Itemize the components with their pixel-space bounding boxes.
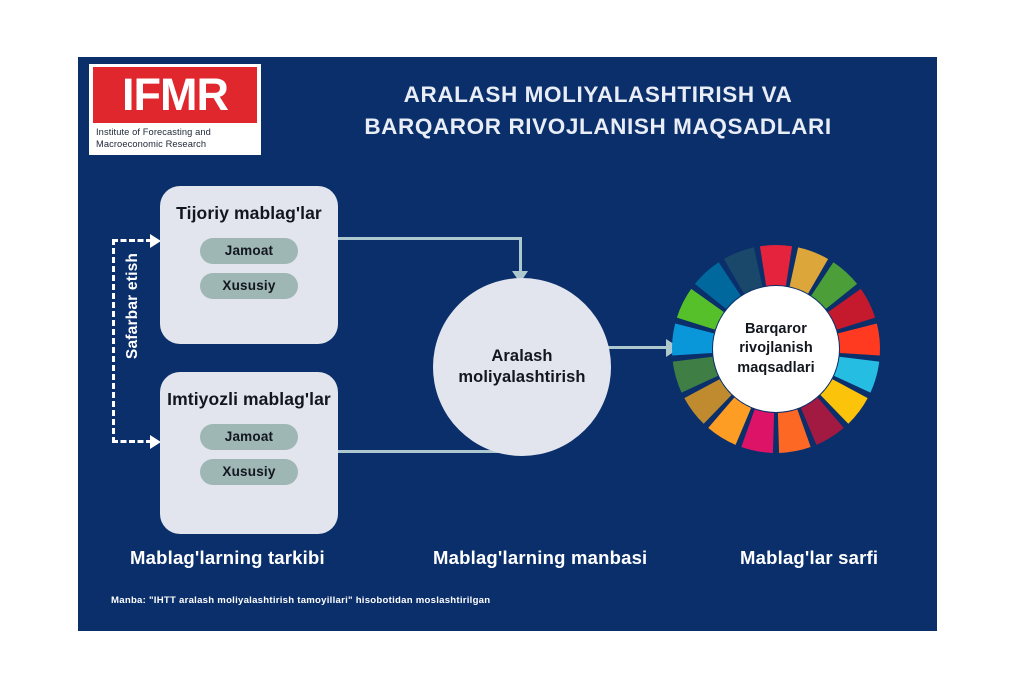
column-caption-source: Mablag'larning manbasi (433, 547, 647, 569)
infographic-panel: IFMR Institute of Forecasting and Macroe… (78, 57, 937, 631)
mobilisation-bracket-bottom-arm (112, 440, 152, 443)
sdg-segment-14 (672, 324, 714, 356)
card-title: Imtiyozli mablag'lar (160, 389, 338, 411)
sdg-wheel-hub (713, 286, 839, 412)
pill-public: Jamoat (200, 238, 298, 264)
funding-source-card-concessional: Imtiyozli mablag'lar Jamoat Xususiy (160, 372, 338, 534)
pill-private: Xususiy (200, 459, 298, 485)
sdg-segment-1 (760, 245, 792, 286)
blended-finance-node: Aralash moliyalashtirish (433, 278, 611, 456)
blended-finance-label-line-1: Aralash (458, 346, 585, 367)
connector-blend-to-sdg (606, 346, 668, 349)
logo-wordmark: IFMR (93, 67, 257, 123)
mobilisation-bracket-vertical (112, 239, 115, 443)
pill-private: Xususiy (200, 273, 298, 299)
mobilisation-label: Safarbar etish (124, 206, 142, 406)
logo-subtitle: Institute of Forecasting and Macroeconom… (93, 123, 257, 151)
blended-finance-label: Aralash moliyalashtirish (458, 346, 585, 389)
sdg-segment-5 (838, 324, 880, 356)
page-title-line-1: ARALASH MOLIYALASHTIRISH VA (278, 79, 918, 111)
column-caption-use: Mablag'lar sarfi (740, 547, 878, 569)
card-title: Tijoriy mablag'lar (160, 203, 338, 225)
sdg-wheel-svg (670, 243, 882, 455)
pill-public: Jamoat (200, 424, 298, 450)
funding-source-card-commercial: Tijoriy mablag'lar Jamoat Xususiy (160, 186, 338, 344)
blended-finance-label-line-2: moliyalashtirish (458, 367, 585, 388)
connector-commercial-horizontal (338, 237, 522, 240)
column-caption-composition: Mablag'larning tarkibi (130, 547, 325, 569)
page-title: ARALASH MOLIYALASHTIRISH VA BARQAROR RIV… (278, 79, 918, 143)
card-pill-group: Jamoat Xususiy (160, 238, 338, 299)
connector-commercial-vertical (519, 237, 522, 273)
card-pill-group: Jamoat Xususiy (160, 424, 338, 485)
page-title-line-2: BARQAROR RIVOJLANISH MAQSADLARI (278, 111, 918, 143)
source-note: Manba: "IHTT aralash moliyalashtirish ta… (111, 595, 490, 606)
ifmr-logo: IFMR Institute of Forecasting and Macroe… (89, 64, 261, 155)
sdg-wheel: Barqaror rivojlanish maqsadlari (670, 243, 882, 455)
